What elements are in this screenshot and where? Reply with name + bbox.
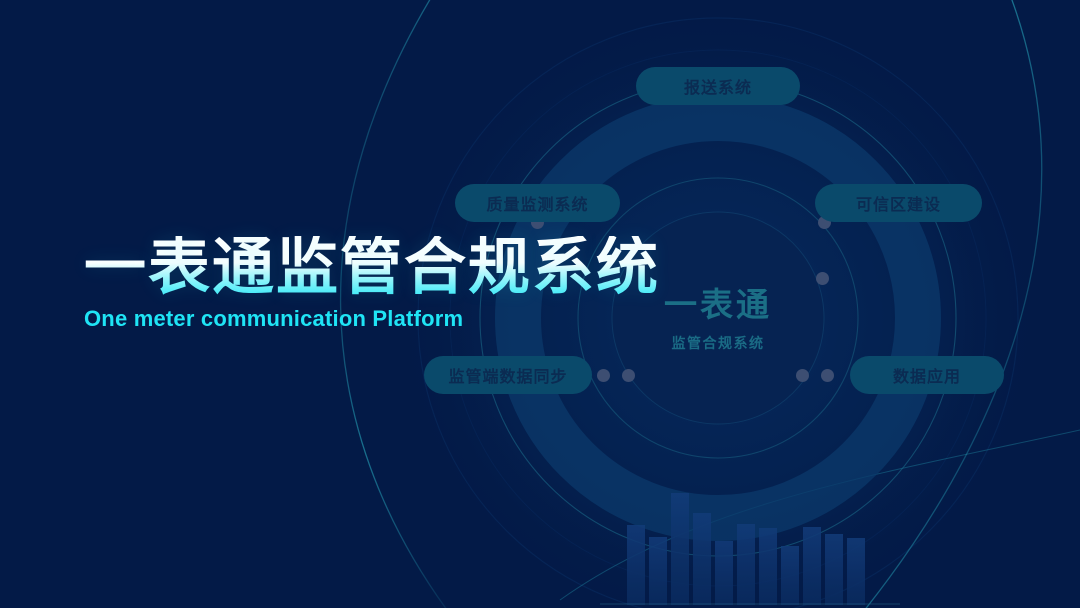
node-kexinqu-label: 可信区建设 bbox=[856, 191, 941, 215]
title-block: 一表通监管合规系统 One meter communication Platfo… bbox=[84, 236, 660, 332]
node-zhiliang-jiance-xitong[interactable]: 质量监测系统 bbox=[455, 184, 620, 222]
node-baosong-label: 报送系统 bbox=[684, 74, 752, 98]
connector-dot-jianguan-outer bbox=[622, 369, 635, 382]
page-subtitle: One meter communication Platform bbox=[84, 306, 660, 332]
connector-dot-jianguan-inner bbox=[597, 369, 610, 382]
node-shuju-yingyong[interactable]: 数据应用 bbox=[850, 356, 1004, 394]
connector-dot-shuju-inner bbox=[796, 369, 809, 382]
node-jianguan-label: 监管端数据同步 bbox=[448, 363, 567, 387]
ring-center-subtitle: 监管合规系统 bbox=[618, 333, 818, 353]
slide-canvas: 一表通监管合规系统 One meter communication Platfo… bbox=[0, 0, 1080, 608]
node-zhiliang-label: 质量监测系统 bbox=[486, 191, 588, 215]
connector-dot-ring-right bbox=[816, 272, 829, 285]
page-title: 一表通监管合规系统 bbox=[84, 236, 660, 300]
node-kexinqu-jianshe[interactable]: 可信区建设 bbox=[815, 184, 982, 222]
connector-dot-shuju-outer bbox=[821, 369, 834, 382]
node-shuju-label: 数据应用 bbox=[893, 363, 961, 387]
node-jianguanduan-shuju-tongbu[interactable]: 监管端数据同步 bbox=[424, 356, 592, 394]
node-baosong-xitong[interactable]: 报送系统 bbox=[636, 67, 800, 105]
